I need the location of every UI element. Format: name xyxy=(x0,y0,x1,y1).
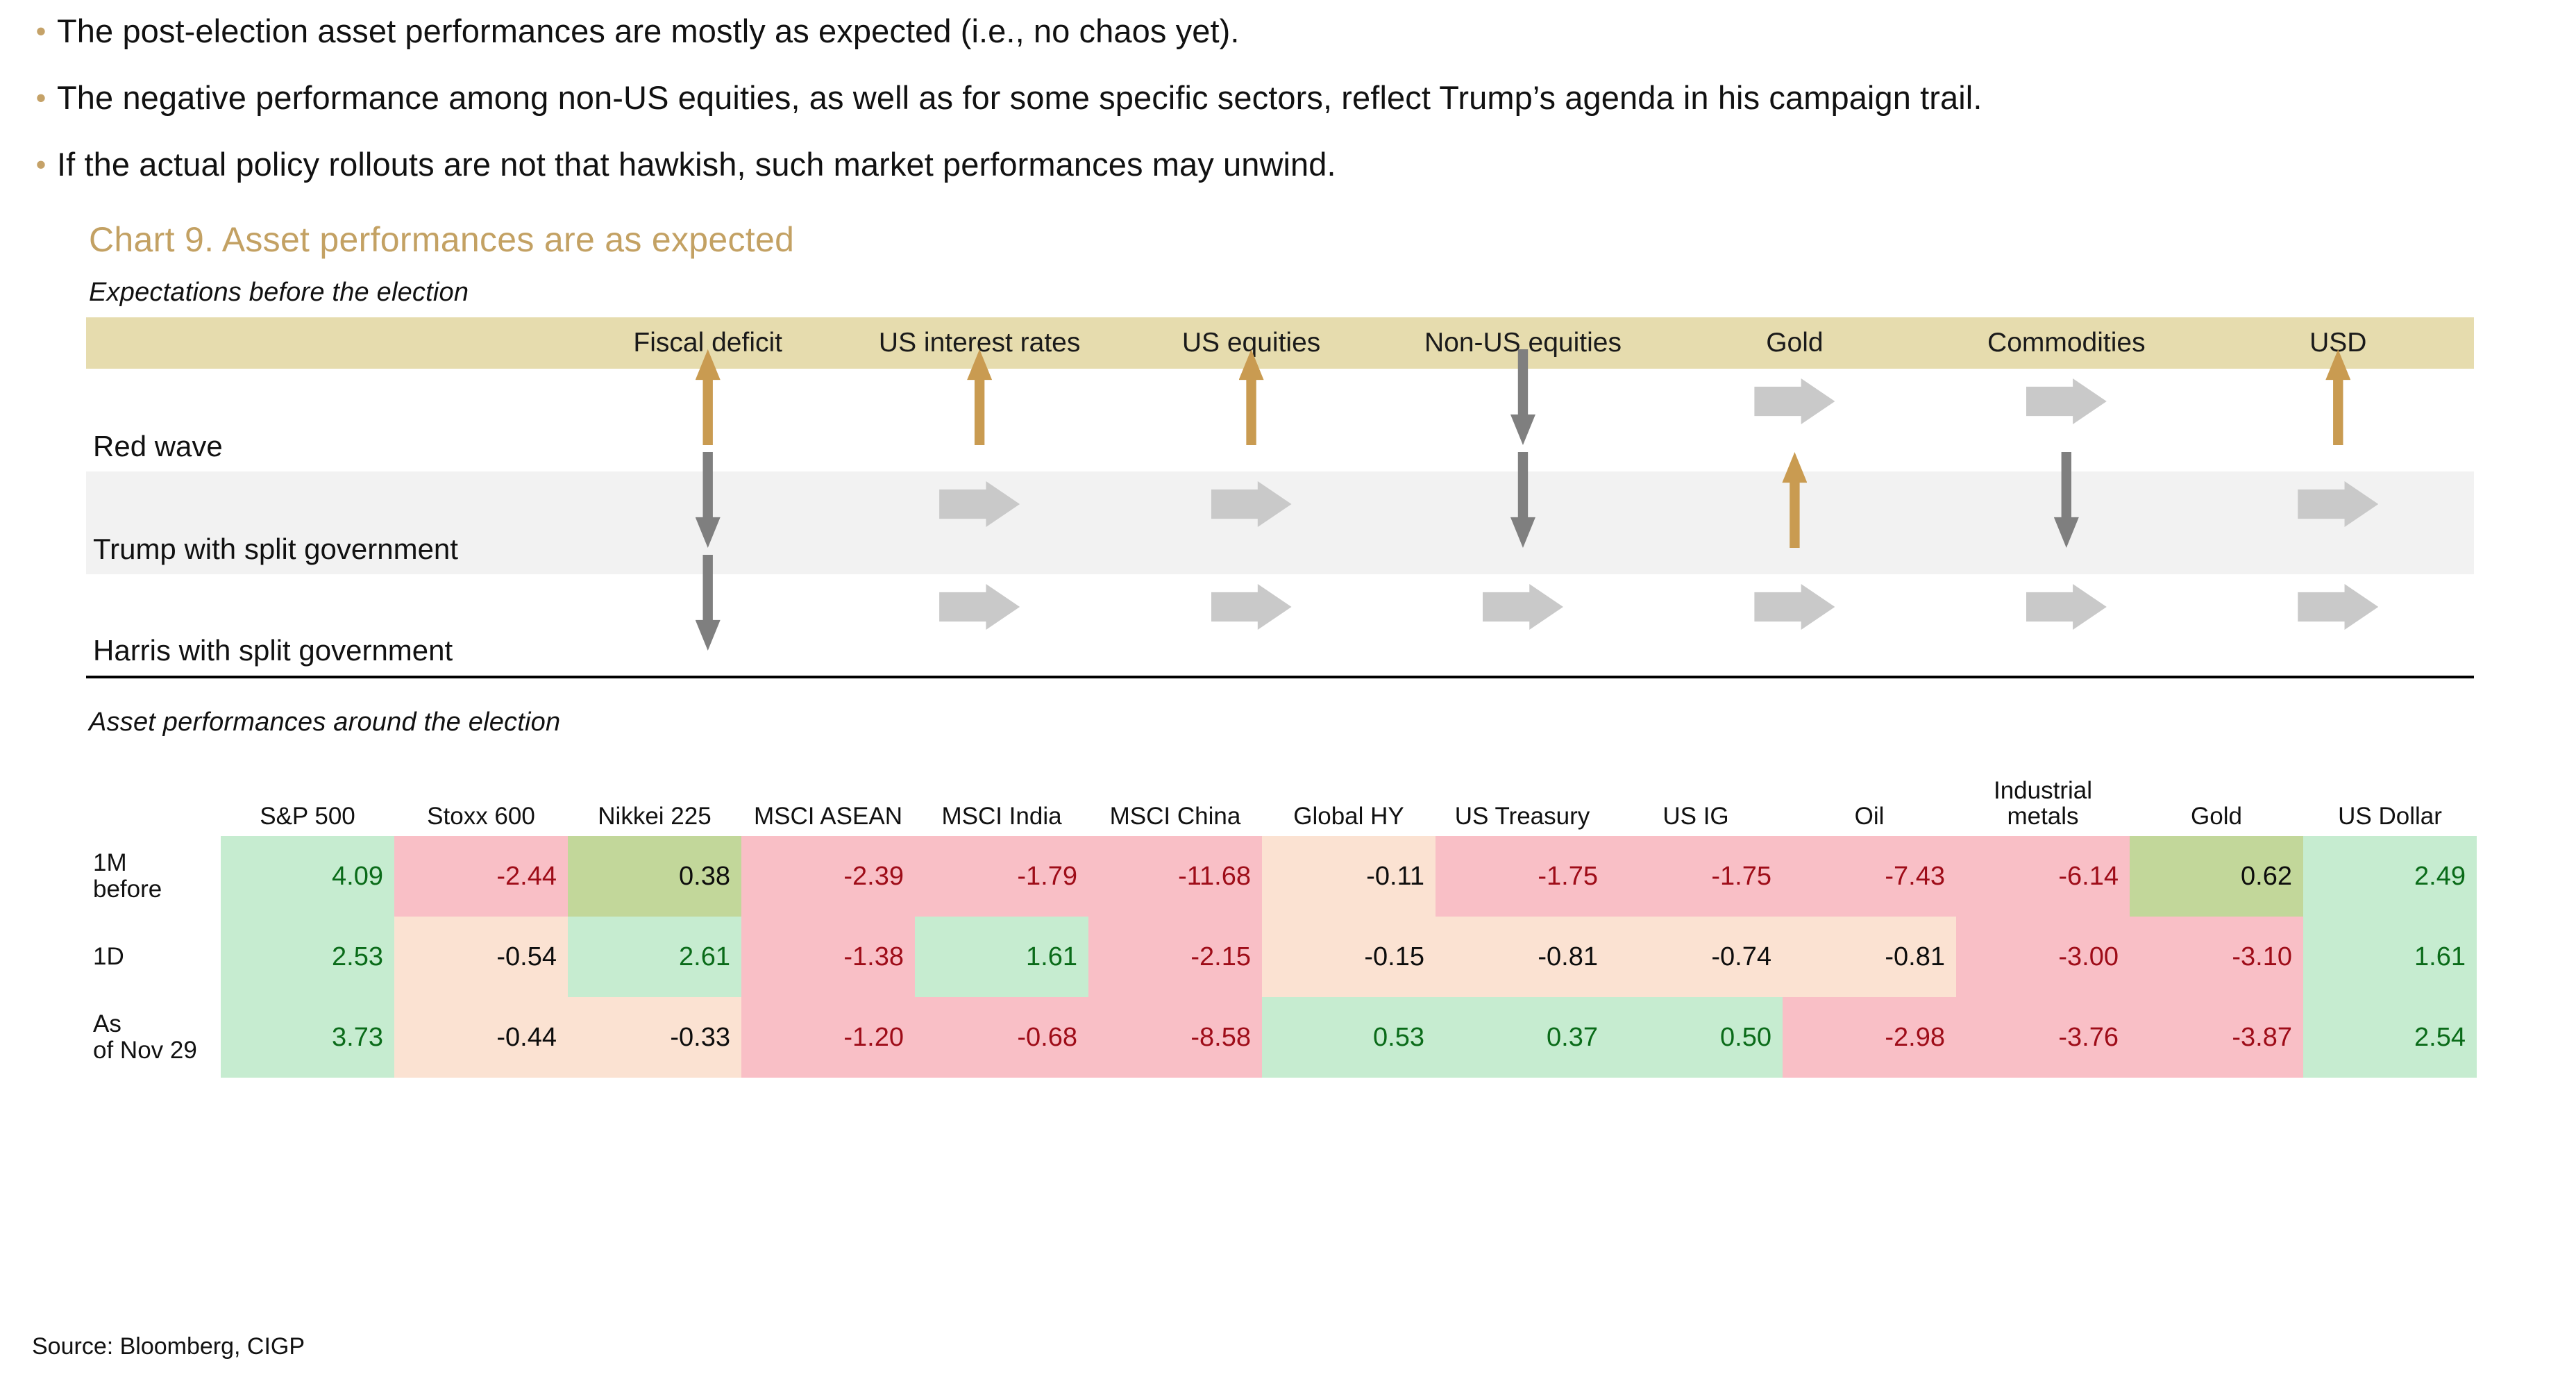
expectations-cell-us-equities xyxy=(1116,574,1387,677)
heatmap-cell: -0.68 xyxy=(915,997,1088,1078)
heatmap-value: -0.81 xyxy=(1885,942,1945,971)
expectations-row-label: Harris with split government xyxy=(86,574,572,677)
heatmap-body: 1Mbefore4.09-2.440.38-2.39-1.79-11.68-0.… xyxy=(89,836,2477,1078)
heatmap-col-header: S&P 500 xyxy=(221,769,394,836)
arrow-right-icon xyxy=(939,481,1020,527)
chart-block: Chart 9. Asset performances are as expec… xyxy=(0,219,2576,1078)
heatmap-cell: 0.50 xyxy=(1609,997,1783,1078)
heatmap-value: -0.68 xyxy=(1017,1023,1077,1052)
expectations-cell-usd xyxy=(2203,471,2474,574)
heatmap-value: -2.44 xyxy=(496,862,557,891)
heatmap-value: -1.38 xyxy=(843,942,904,971)
arrow-right-icon xyxy=(1211,481,1292,527)
heatmap-col-header: Oil xyxy=(1783,769,1956,836)
heatmap-cell: -7.43 xyxy=(1783,836,1956,917)
heatmap-col-header: Global HY xyxy=(1262,769,1436,836)
heatmap-row-label: 1Mbefore xyxy=(89,836,221,917)
heatmap-value: 0.38 xyxy=(679,862,730,891)
heatmap-value: -0.74 xyxy=(1711,942,1771,971)
heatmap-value: 2.61 xyxy=(679,942,730,971)
expectations-matrix: Fiscal deficit US interest rates US equi… xyxy=(86,317,2474,678)
heatmap-value: -1.75 xyxy=(1538,862,1598,891)
arrow-right-icon xyxy=(2026,378,2107,424)
heatmap-cell: -0.44 xyxy=(394,997,568,1078)
heatmap-value: 3.73 xyxy=(332,1023,383,1052)
heatmap-cell: -1.20 xyxy=(741,997,915,1078)
heatmap-value: -2.39 xyxy=(843,862,904,891)
bullet-dot-icon: • xyxy=(25,76,57,119)
heatmap-value: 0.53 xyxy=(1373,1023,1424,1052)
heatmap-value: -3.76 xyxy=(2058,1023,2119,1052)
heatmap-cell: -0.81 xyxy=(1783,917,1956,997)
arrow-right-icon xyxy=(1483,584,1563,630)
heatmap-value: 1.61 xyxy=(1026,942,1077,971)
heatmap-cell: -3.10 xyxy=(2130,917,2303,997)
heatmap-value: -3.10 xyxy=(2232,942,2292,971)
heatmap-value: -3.00 xyxy=(2058,942,2119,971)
heatmap-col-header: Industrial metals xyxy=(1956,769,2130,836)
heatmap-cell: -3.76 xyxy=(1956,997,2130,1078)
heatmap-col-header: MSCI India xyxy=(915,769,1088,836)
heatmap-cell: -3.00 xyxy=(1956,917,2130,997)
expectations-cell-commodities xyxy=(1930,471,2202,574)
heatmap-cell: -11.68 xyxy=(1088,836,1262,917)
heatmap-cell: 0.62 xyxy=(2130,836,2303,917)
heatmap-cell: 2.49 xyxy=(2303,836,2477,917)
bullet-dot-icon: • xyxy=(25,10,57,53)
heatmap-value: 1.61 xyxy=(2414,942,2466,971)
heatmap-cell: -1.38 xyxy=(741,917,915,997)
arrow-right-icon xyxy=(2298,584,2378,630)
heatmap-value: -3.87 xyxy=(2232,1023,2292,1052)
heatmap-value: 2.49 xyxy=(2414,862,2466,891)
heatmap-cell: -2.15 xyxy=(1088,917,1262,997)
heatmap-value: -1.20 xyxy=(843,1023,904,1052)
bullet-dot-icon: • xyxy=(25,143,57,186)
arrow-right-icon xyxy=(1754,584,1835,630)
heatmap-row: Asof Nov 293.73-0.44-0.33-1.20-0.68-8.58… xyxy=(89,997,2477,1078)
heatmap-cell: 2.61 xyxy=(568,917,741,997)
heatmap-cell: -8.58 xyxy=(1088,997,1262,1078)
heatmap-cell: 1.61 xyxy=(915,917,1088,997)
heatmap-cell: -0.74 xyxy=(1609,917,1783,997)
heatmap-header-row: S&P 500Stoxx 600Nikkei 225MSCI ASEANMSCI… xyxy=(89,769,2477,836)
performance-caption: Asset performances around the election xyxy=(89,708,2534,737)
expectations-cell-usd xyxy=(2203,574,2474,677)
heatmap-value: -8.58 xyxy=(1190,1023,1251,1052)
expectations-corner xyxy=(86,317,572,369)
bullet-text: The negative performance among non-US eq… xyxy=(57,76,2534,119)
heatmap-cell: -0.81 xyxy=(1436,917,1609,997)
heatmap-value: 4.09 xyxy=(332,862,383,891)
heatmap-row: 1D2.53-0.542.61-1.381.61-2.15-0.15-0.81-… xyxy=(89,917,2477,997)
heatmap-value: 2.54 xyxy=(2414,1023,2466,1052)
heatmap-col-header: Gold xyxy=(2130,769,2303,836)
heatmap-cell: 0.53 xyxy=(1262,997,1436,1078)
source-note: Source: Bloomberg, CIGP xyxy=(32,1333,305,1360)
heatmap-row: 1Mbefore4.09-2.440.38-2.39-1.79-11.68-0.… xyxy=(89,836,2477,917)
expectations-cell-fiscal-deficit xyxy=(572,574,843,677)
list-item: • The negative performance among non-US … xyxy=(25,76,2534,119)
bullet-text: The post-election asset performances are… xyxy=(57,10,2534,52)
list-item: • If the actual policy rollouts are not … xyxy=(25,143,2534,186)
bullet-list: • The post-election asset performances a… xyxy=(0,0,2576,186)
expectations-cell-gold xyxy=(1659,574,1930,677)
heatmap-col-header: MSCI ASEAN xyxy=(741,769,915,836)
expectations-cell-commodities xyxy=(1930,574,2202,677)
expectations-header-row: Fiscal deficit US interest rates US equi… xyxy=(86,317,2474,369)
expectations-cell-gold xyxy=(1659,471,1930,574)
expectations-cell-us-equities xyxy=(1116,471,1387,574)
expectations-col-gold: Gold xyxy=(1659,317,1930,369)
heatmap-cell: -0.15 xyxy=(1262,917,1436,997)
heatmap-value: -0.44 xyxy=(496,1023,557,1052)
heatmap-col-header: US Dollar xyxy=(2303,769,2477,836)
arrow-right-icon xyxy=(2026,584,2107,630)
bullet-text: If the actual policy rollouts are not th… xyxy=(57,143,2534,185)
expectations-cell-us-interest-rates xyxy=(843,574,1115,677)
heatmap-col-header: Stoxx 600 xyxy=(394,769,568,836)
heatmap-value: -1.75 xyxy=(1711,862,1771,891)
heatmap-value: -0.11 xyxy=(1366,862,1424,891)
heatmap-value: -0.54 xyxy=(496,942,557,971)
heatmap-value: -11.68 xyxy=(1178,862,1251,891)
expectations-cell-usd xyxy=(2203,369,2474,471)
heatmap-value: -0.33 xyxy=(670,1023,730,1052)
heatmap-cell: 2.53 xyxy=(221,917,394,997)
heatmap-value: -0.15 xyxy=(1364,942,1424,971)
expectations-row: Trump with split government xyxy=(86,471,2474,574)
heatmap-cell: 0.37 xyxy=(1436,997,1609,1078)
heatmap-cell: -1.79 xyxy=(915,836,1088,917)
expectations-col-commodities: Commodities xyxy=(1930,317,2202,369)
performance-heatmap: S&P 500Stoxx 600Nikkei 225MSCI ASEANMSCI… xyxy=(89,769,2477,1078)
heatmap-value: 0.62 xyxy=(2241,862,2292,891)
heatmap-cell: -1.75 xyxy=(1436,836,1609,917)
heatmap-value: -1.79 xyxy=(1017,862,1077,891)
heatmap-cell: -2.98 xyxy=(1783,997,1956,1078)
heatmap-value: 0.37 xyxy=(1547,1023,1598,1052)
heatmap-cell: 4.09 xyxy=(221,836,394,917)
heatmap-cell: -6.14 xyxy=(1956,836,2130,917)
heatmap-value: -0.81 xyxy=(1538,942,1598,971)
expectations-body: Red waveTrump with split governmentHarri… xyxy=(86,369,2474,677)
heatmap-row-label: 1D xyxy=(89,917,221,997)
expectations-row-label: Trump with split government xyxy=(86,471,572,574)
expectations-cell-us-equities xyxy=(1116,369,1387,471)
heatmap-value: 2.53 xyxy=(332,942,383,971)
arrow-right-icon xyxy=(2298,481,2378,527)
heatmap-cell: -0.11 xyxy=(1262,836,1436,917)
heatmap-col-header: US Treasury xyxy=(1436,769,1609,836)
heatmap-value: 0.50 xyxy=(1720,1023,1771,1052)
heatmap-cell: -2.39 xyxy=(741,836,915,917)
heatmap-value: -2.15 xyxy=(1190,942,1251,971)
heatmap-cell: 1.61 xyxy=(2303,917,2477,997)
heatmap-corner xyxy=(89,769,221,836)
arrow-right-icon xyxy=(1754,378,1835,424)
expectations-row: Red wave xyxy=(86,369,2474,471)
heatmap-col-header: Nikkei 225 xyxy=(568,769,741,836)
expectations-cell-non-us-equities xyxy=(1387,574,1658,677)
expectations-cell-non-us-equities xyxy=(1387,471,1658,574)
heatmap-cell: 0.38 xyxy=(568,836,741,917)
chart-title: Chart 9. Asset performances are as expec… xyxy=(89,219,2534,260)
heatmap-value: -2.98 xyxy=(1885,1023,1945,1052)
heatmap-cell: -0.33 xyxy=(568,997,741,1078)
expectations-cell-us-interest-rates xyxy=(843,369,1115,471)
heatmap-value: -6.14 xyxy=(2058,862,2119,891)
heatmap-cell: -0.54 xyxy=(394,917,568,997)
expectations-row: Harris with split government xyxy=(86,574,2474,677)
heatmap-cell: 3.73 xyxy=(221,997,394,1078)
expectations-caption: Expectations before the election xyxy=(89,278,2534,308)
expectations-cell-us-interest-rates xyxy=(843,471,1115,574)
heatmap-col-header: MSCI China xyxy=(1088,769,1262,836)
heatmap-col-header: US IG xyxy=(1609,769,1783,836)
heatmap-cell: -3.87 xyxy=(2130,997,2303,1078)
heatmap-row-label: Asof Nov 29 xyxy=(89,997,221,1078)
heatmap-cell: 2.54 xyxy=(2303,997,2477,1078)
expectations-row-label: Red wave xyxy=(86,369,572,471)
heatmap-value: -7.43 xyxy=(1885,862,1945,891)
arrow-right-icon xyxy=(939,584,1020,630)
arrow-right-icon xyxy=(1211,584,1292,630)
heatmap-cell: -1.75 xyxy=(1609,836,1783,917)
list-item: • The post-election asset performances a… xyxy=(25,10,2534,53)
heatmap-cell: -2.44 xyxy=(394,836,568,917)
